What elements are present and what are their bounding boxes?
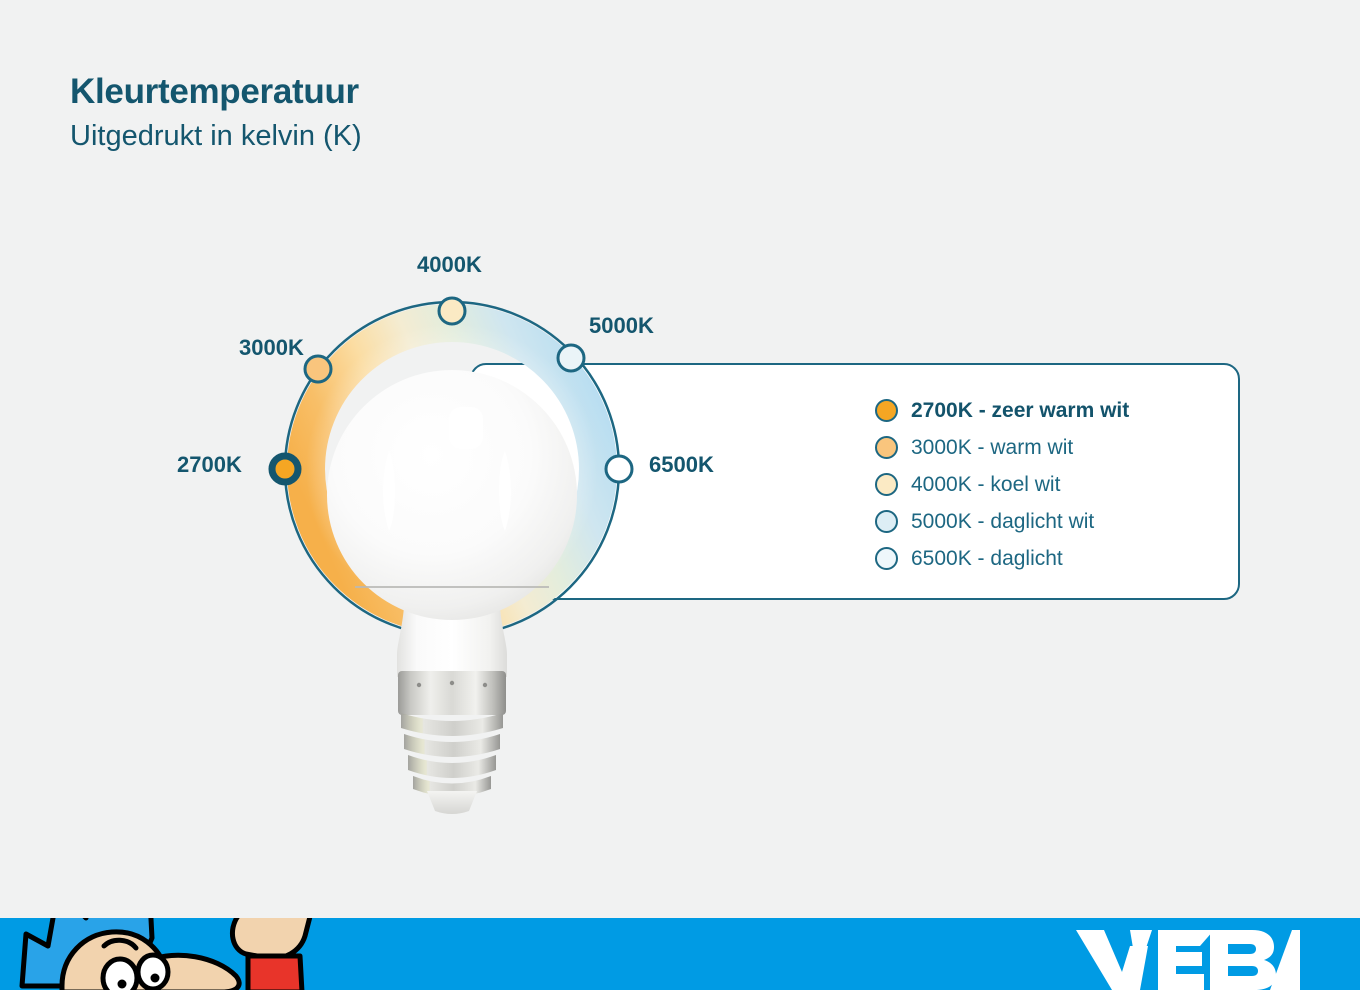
mascot-hand xyxy=(232,918,314,958)
mascot-pupil-left xyxy=(118,980,127,989)
legend-label-3000k: 3000K - warm wit xyxy=(911,436,1073,460)
legend-item-3000k[interactable]: 3000K - warm wit xyxy=(875,429,1129,466)
logo-letter-b xyxy=(1210,930,1276,990)
legend-item-2700k[interactable]: 2700K - zeer warm wit xyxy=(875,392,1129,429)
legend-dot-6500k xyxy=(875,547,898,570)
logo-letter-e xyxy=(1158,930,1214,990)
legend-label-2700k: 2700K - zeer warm wit xyxy=(911,399,1129,423)
bulb-contact-tip xyxy=(427,791,477,814)
mascot-illustration xyxy=(0,918,330,990)
marker-6500k xyxy=(606,456,632,482)
legend-label-5000k: 5000K - daglicht wit xyxy=(911,510,1094,534)
weba-logo xyxy=(1074,928,1302,990)
legend-label-6500k: 6500K - daglicht xyxy=(911,547,1063,571)
marker-4000k xyxy=(439,298,465,324)
arc-label-3000k: 3000K xyxy=(239,335,304,361)
collar-dimple xyxy=(483,683,487,687)
legend-dot-4000k xyxy=(875,473,898,496)
legend-list: 2700K - zeer warm wit 3000K - warm wit 4… xyxy=(875,392,1129,577)
mascot-sleeve xyxy=(248,956,302,990)
bulb-highlight-top xyxy=(449,407,483,449)
legend-label-4000k: 4000K - koel wit xyxy=(911,473,1060,497)
legend-dot-3000k xyxy=(875,436,898,459)
legend-item-6500k[interactable]: 6500K - daglicht xyxy=(875,540,1129,577)
legend-item-4000k[interactable]: 4000K - koel wit xyxy=(875,466,1129,503)
arc-label-5000k: 5000K xyxy=(589,313,654,339)
logo-letter-a xyxy=(1270,930,1300,990)
color-temperature-diagram: 2700K - zeer warm wit 3000K - warm wit 4… xyxy=(0,0,1360,918)
bulb-screw-threads xyxy=(401,713,503,797)
bulb-collar xyxy=(398,671,506,715)
legend-dot-2700k xyxy=(875,399,898,422)
mascot-eye-right xyxy=(138,955,168,989)
arc-label-4000k: 4000K xyxy=(417,252,482,278)
arc-label-6500k: 6500K xyxy=(649,452,714,478)
collar-dimple xyxy=(450,681,454,685)
marker-2700k xyxy=(272,456,298,482)
light-bulb-illustration xyxy=(327,355,577,815)
collar-dimple xyxy=(417,683,421,687)
legend-dot-5000k xyxy=(875,510,898,533)
bulb-glass xyxy=(327,370,577,620)
legend-item-5000k[interactable]: 5000K - daglicht wit xyxy=(875,503,1129,540)
arc-label-2700k: 2700K xyxy=(177,452,242,478)
bottom-banner xyxy=(0,918,1360,990)
mascot-pupil-right xyxy=(151,974,160,983)
